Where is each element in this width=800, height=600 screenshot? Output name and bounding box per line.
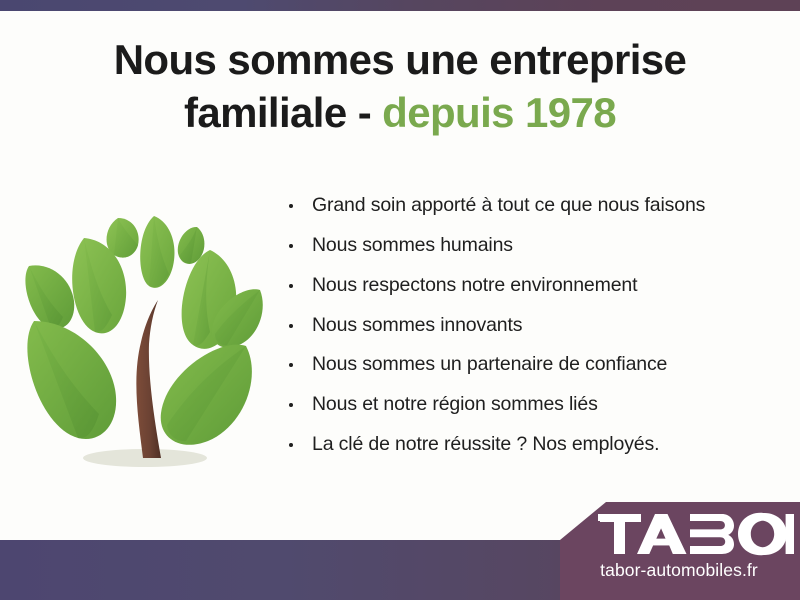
- slide-canvas: Nous sommes une entreprise familiale - d…: [0, 0, 800, 600]
- top-accent-bar: [0, 0, 800, 11]
- headline-line-2-black: familiale -: [184, 89, 382, 136]
- headline-line-1: Nous sommes une entreprise: [0, 34, 800, 87]
- tree-trunk: [136, 300, 161, 458]
- logo-url: tabor-automobiles.fr: [560, 560, 798, 581]
- list-item: Grand soin apporté à tout ce que nous fa…: [286, 193, 766, 218]
- list-item: Nous respectons notre environnement: [286, 273, 766, 298]
- list-item: Nous sommes un partenaire de confiance: [286, 352, 766, 377]
- headline-line-2-accent: depuis 1978: [382, 89, 616, 136]
- list-item: Nous sommes innovants: [286, 313, 766, 338]
- tree-icon: [14, 182, 276, 488]
- headline-line-2: familiale - depuis 1978: [0, 87, 800, 140]
- tabor-logo-wordmark: [598, 511, 794, 557]
- bullet-list: Grand soin apporté à tout ce que nous fa…: [286, 193, 766, 457]
- list-item: La clé de notre réussite ? Nos employés.: [286, 432, 766, 457]
- page-title: Nous sommes une entreprise familiale - d…: [0, 34, 800, 140]
- list-item: Nous sommes humains: [286, 233, 766, 258]
- list-item: Nous et notre région sommes liés: [286, 392, 766, 417]
